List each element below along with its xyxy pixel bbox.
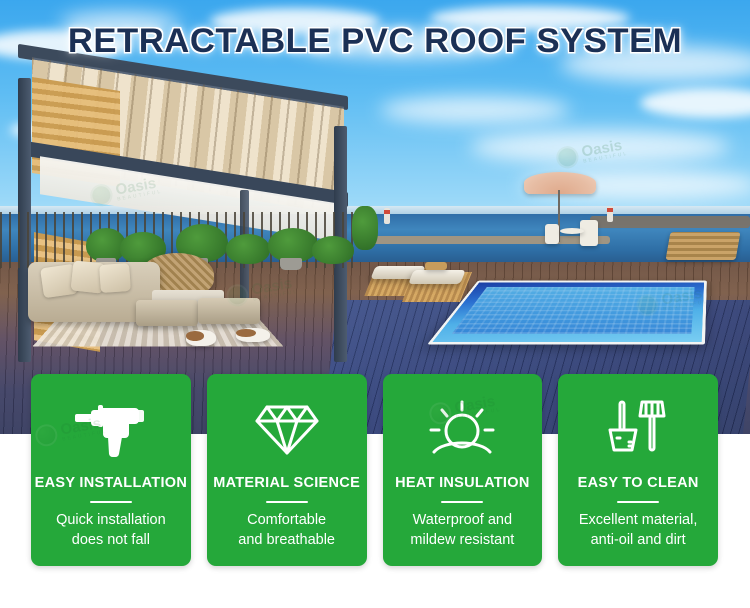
feature-subtitle-line1: Excellent material,	[579, 511, 697, 531]
cloud-decoration	[380, 96, 570, 124]
ottoman	[198, 298, 260, 324]
lighthouse-icon	[607, 206, 613, 222]
feature-subtitle-line2: anti-oil and dirt	[579, 531, 697, 551]
feature-subtitle: Excellent material, anti-oil and dirt	[571, 511, 705, 550]
feature-title: EASY TO CLEAN	[578, 476, 699, 492]
feature-title: EASY INSTALLATION	[35, 476, 188, 492]
feature-title: HEAT INSULATION	[395, 476, 529, 492]
potted-plant	[268, 228, 318, 262]
plant-pot	[280, 258, 302, 270]
dustpan-broom-icon	[600, 392, 676, 466]
breakwater-rocks	[590, 216, 750, 228]
feature-divider	[90, 501, 132, 503]
wooden-bench	[666, 232, 741, 260]
feature-divider	[266, 501, 308, 503]
feature-card-material-science[interactable]: MATERIAL SCIENCE Comfortable and breatha…	[207, 374, 367, 566]
patio-parasol	[524, 172, 596, 194]
ottoman	[136, 300, 198, 326]
feature-divider	[617, 501, 659, 503]
lighthouse-icon	[384, 208, 390, 224]
patio-chair	[545, 224, 559, 244]
potted-plant	[312, 236, 354, 264]
product-banner: Oasis BEAUTIFUL Oasis BEAUTIFUL Oasis BE…	[0, 0, 750, 608]
cloud-decoration	[470, 130, 730, 164]
swimming-pool	[427, 281, 707, 345]
patio-table	[560, 228, 584, 234]
feature-subtitle: Quick installation does not fall	[48, 511, 174, 550]
feature-subtitle-line1: Waterproof and	[410, 511, 514, 531]
feature-subtitle-line2: mildew resistant	[410, 531, 514, 551]
drill-icon	[73, 392, 149, 466]
feature-subtitle-line2: and breathable	[238, 531, 335, 551]
hero-photo: Oasis BEAUTIFUL Oasis BEAUTIFUL Oasis BE…	[0, 0, 750, 434]
dog	[186, 330, 216, 346]
feature-card-easy-to-clean[interactable]: EASY TO CLEAN Excellent material, anti-o…	[558, 374, 718, 566]
potted-plant	[352, 206, 378, 250]
feature-subtitle-line2: does not fall	[56, 531, 166, 551]
diamond-icon	[249, 392, 325, 466]
cloud-decoration	[640, 88, 750, 118]
feature-card-list: Oasis BEAUTIFUL EASY INSTALLATION Qu	[31, 374, 718, 566]
globe-icon	[34, 423, 59, 448]
sun-lounger	[408, 270, 466, 284]
feature-divider	[441, 501, 483, 503]
dog-patch	[186, 331, 204, 341]
breakwater-rocks	[360, 236, 610, 244]
pool-water	[452, 287, 695, 334]
dog-patch	[236, 329, 256, 337]
patio-chair	[580, 220, 598, 246]
banner-title: RETRACTABLE PVC ROOF SYSTEM	[0, 22, 750, 61]
feature-title: MATERIAL SCIENCE	[213, 476, 360, 492]
feature-subtitle: Waterproof and mildew resistant	[402, 511, 522, 550]
feature-subtitle: Comfortable and breathable	[230, 511, 343, 550]
feature-card-easy-installation[interactable]: Oasis BEAUTIFUL EASY INSTALLATION Qu	[31, 374, 191, 566]
potted-plant	[226, 234, 270, 264]
feature-subtitle-line1: Quick installation	[56, 511, 166, 531]
feature-card-heat-insulation[interactable]: Oasis BEAUTIFUL HEAT INSULATION Water	[383, 374, 543, 566]
dog	[236, 328, 270, 342]
side-table	[425, 262, 447, 270]
feature-subtitle-line1: Comfortable	[238, 511, 335, 531]
sunrise-icon	[424, 392, 500, 466]
cushion	[99, 263, 131, 293]
